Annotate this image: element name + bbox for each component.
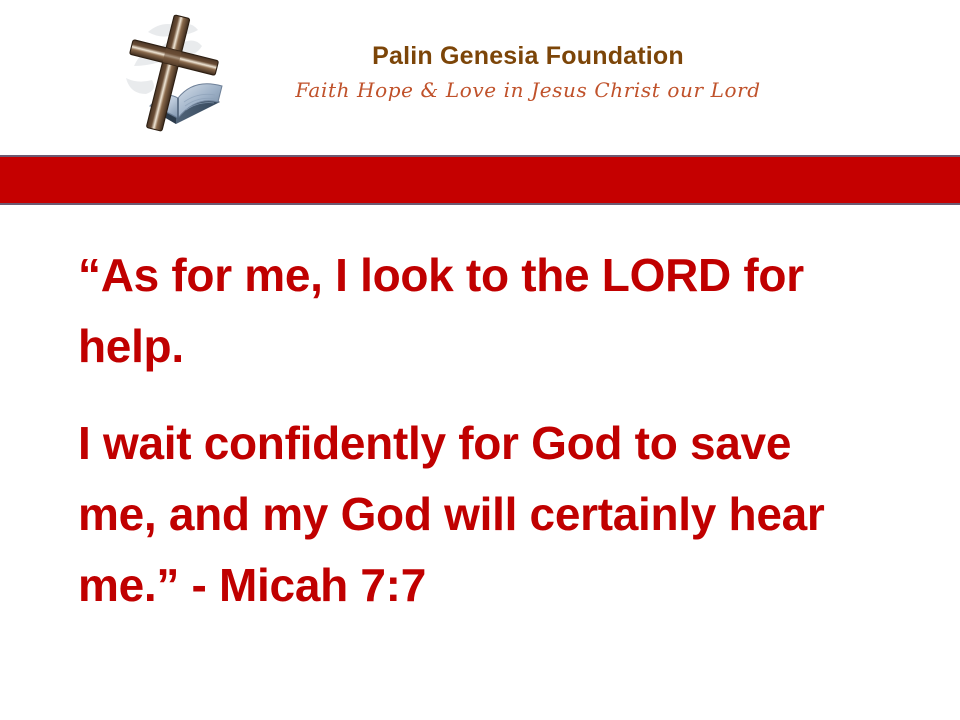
cross-and-bible-logo [102, 6, 242, 142]
verse-paragraph-1: “As for me, I look to the LORD for help. [78, 240, 878, 382]
brand-block: Palin Genesia Foundation Faith Hope & Lo… [248, 40, 808, 103]
slide-header: Palin Genesia Foundation Faith Hope & Lo… [0, 0, 960, 150]
scripture-verse-block: “As for me, I look to the LORD for help.… [78, 240, 878, 621]
organization-tagline: Faith Hope & Love in Jesus Christ our Lo… [248, 77, 808, 103]
slide-canvas: Palin Genesia Foundation Faith Hope & Lo… [0, 0, 960, 720]
verse-paragraph-2: I wait confidently for God to save me, a… [78, 408, 878, 621]
red-divider-bar [0, 155, 960, 205]
organization-name: Palin Genesia Foundation [248, 40, 808, 72]
